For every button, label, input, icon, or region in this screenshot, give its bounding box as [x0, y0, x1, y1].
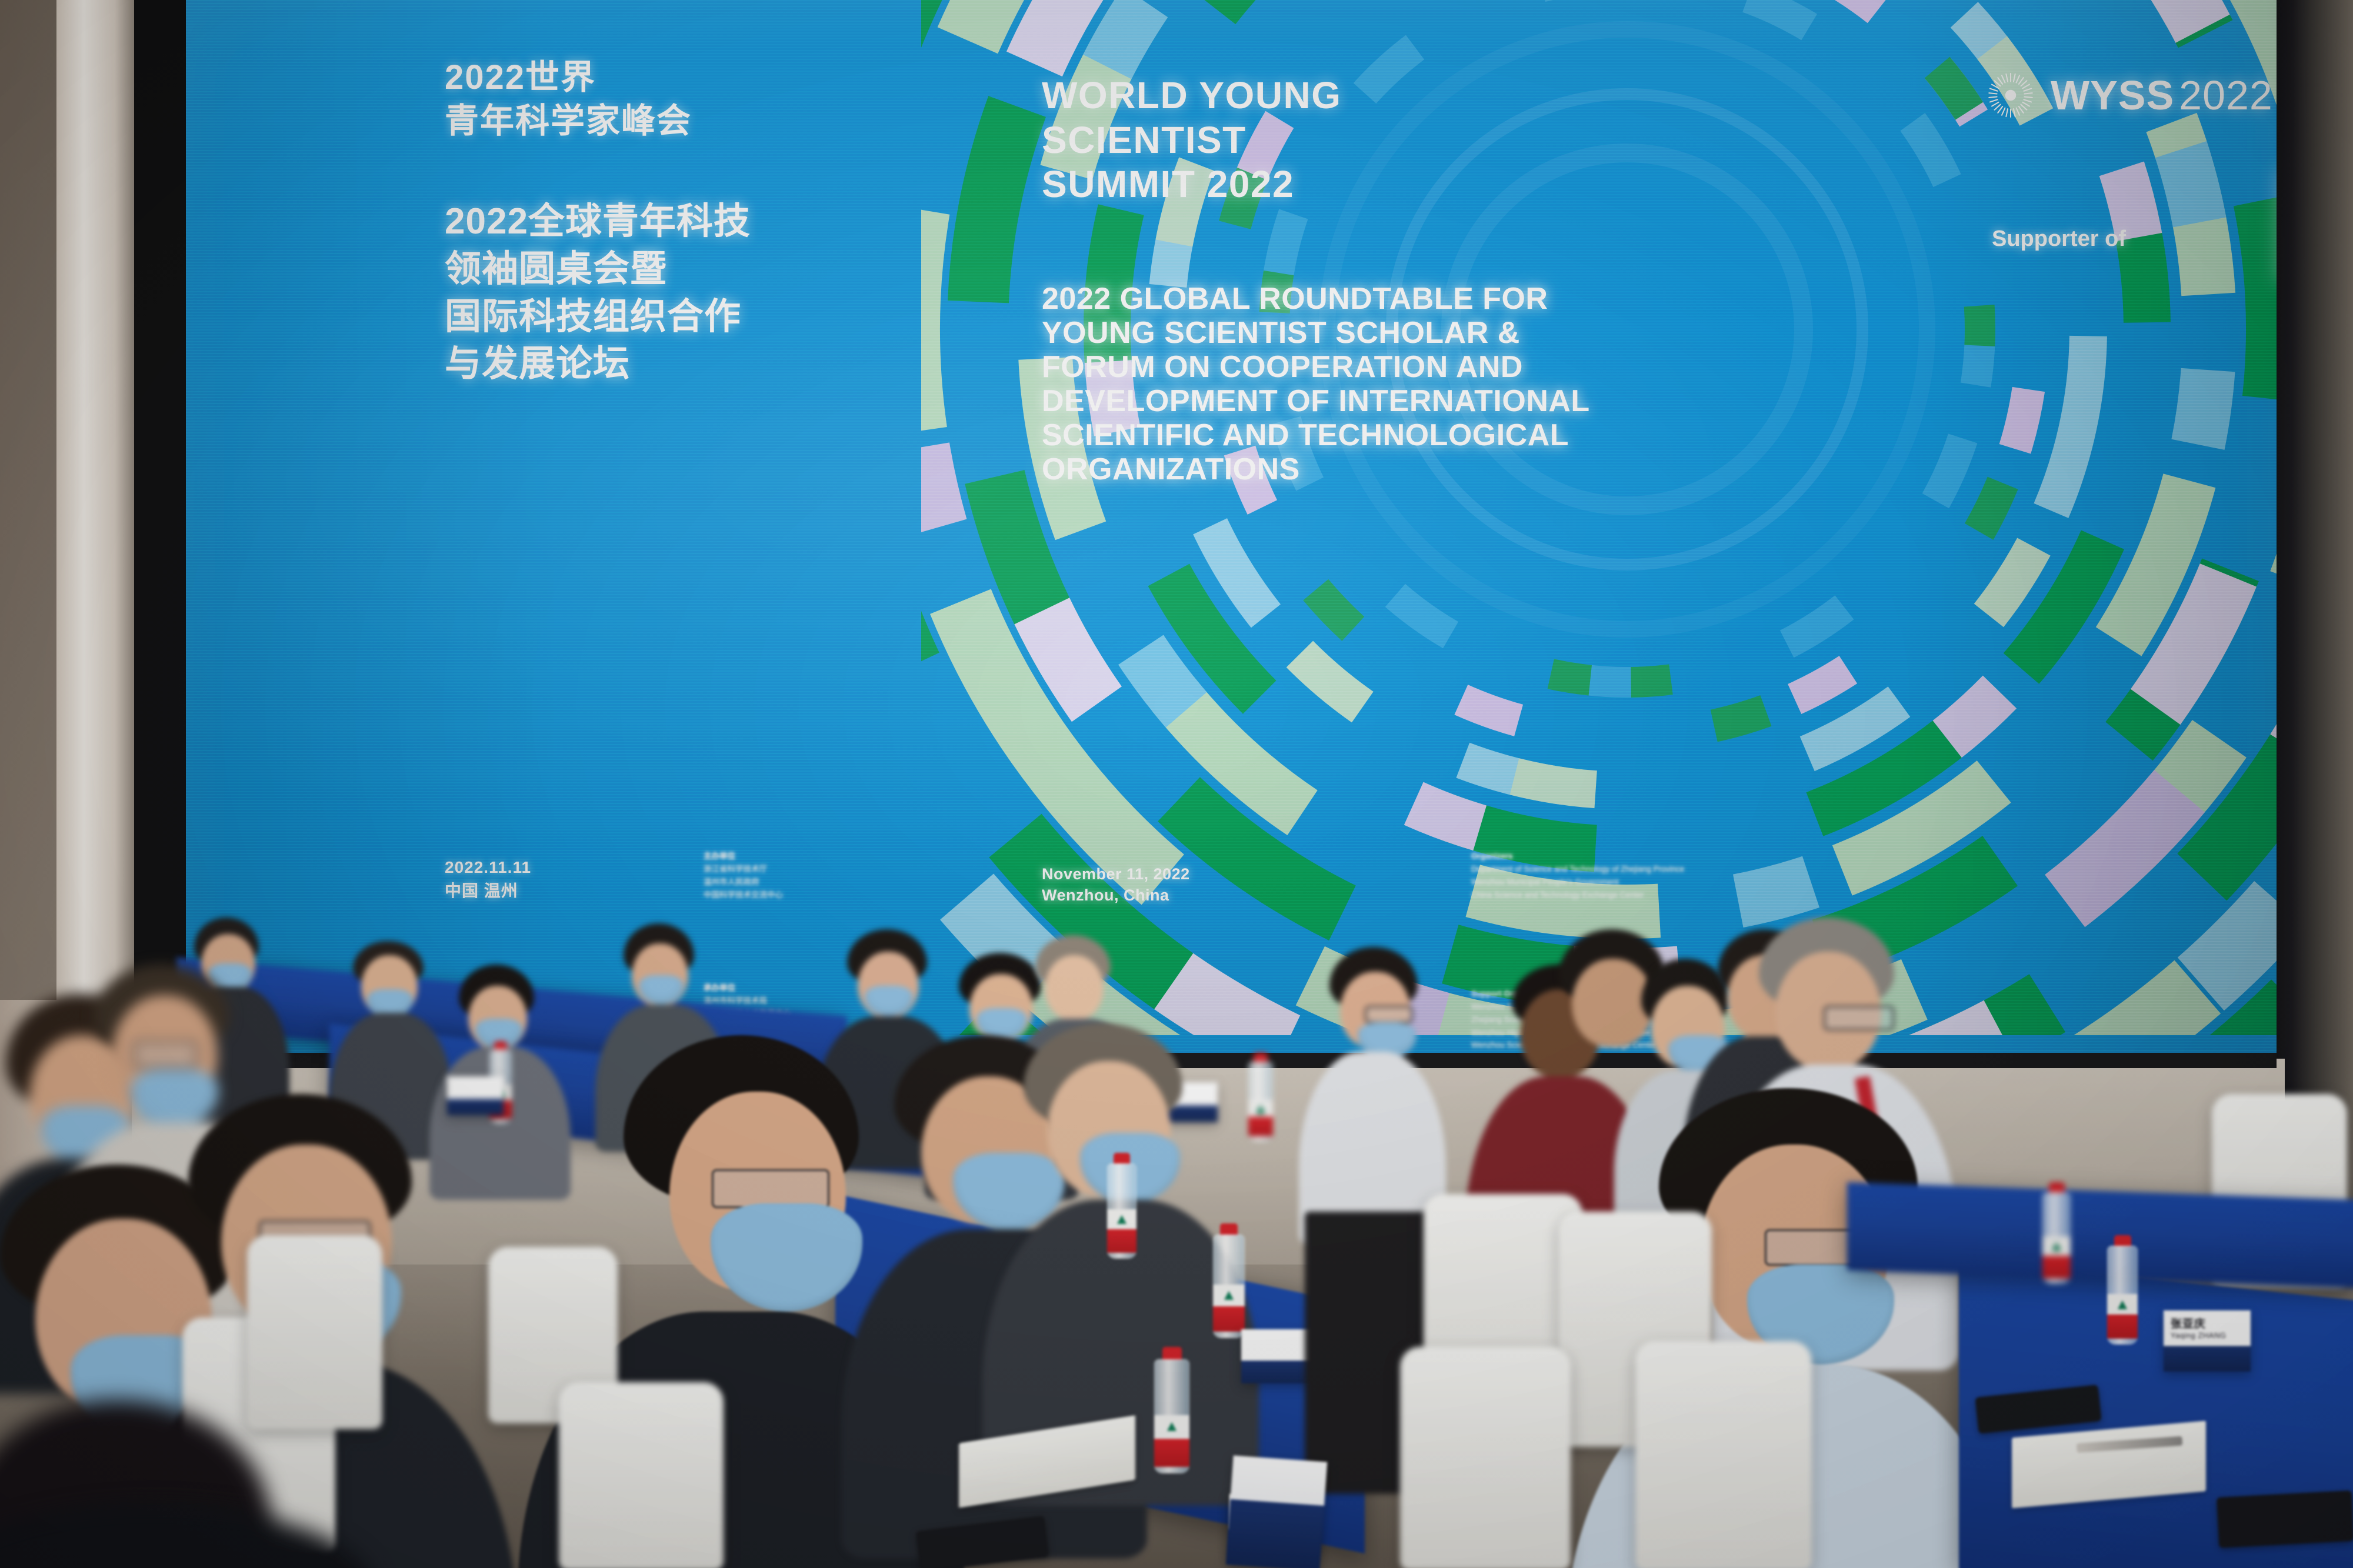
chair-right-3: [1400, 1347, 1571, 1568]
zh-event-line-2: 青年科学家峰会: [445, 99, 892, 143]
en-event-line-3: SUMMIT 2022: [1042, 162, 1571, 207]
name-card-chinese-name: 张亚庆: [2171, 1315, 2206, 1331]
led-stage-screen: 2022世界 青年科学家峰会 2022全球青年科技 领袖圆桌会暨 国际科技组织合…: [186, 0, 2277, 1062]
sunburst-logo-icon: [1986, 71, 2035, 120]
screen-english-event-name: WORLD YOUNG SCIENTIST SUMMIT 2022: [1042, 74, 1571, 207]
name-card-yaqing-zhang: 张亚庆 Yaqing ZHANG: [2164, 1310, 2251, 1372]
en-event-line-2: SCIENTIST: [1042, 118, 1571, 163]
name-card-pinyin-name: Yaqing ZHANG: [2171, 1331, 2227, 1340]
screen-date-chinese: 2022.11.11 中国 温州: [445, 856, 531, 903]
date-en-value: November 11, 2022: [1042, 863, 1190, 885]
water-bottle-front-3: [1153, 1347, 1191, 1473]
supporter-of-label: Supporter of: [1992, 226, 2126, 252]
stage-black-panel: [134, 0, 191, 1076]
organizers-en-a-body: Department of Science and Technology of …: [1471, 865, 1684, 899]
en-forum-line-5: SCIENTIFIC AND TECHNOLOGICAL: [1042, 419, 1942, 453]
water-bottle-front-2: [1212, 1223, 1246, 1338]
zh-forum-line-4: 与发展论坛: [445, 341, 892, 388]
organizers-en-a-heading: Organizers: [1471, 850, 1701, 863]
phone-right-table-2: [2217, 1490, 2353, 1548]
zh-forum-line-3: 国际科技组织合作: [445, 293, 892, 341]
organizers-zh-b-heading: 承办单位: [704, 982, 821, 995]
wyss-logo-lockup: WYSS2022: [1986, 71, 2273, 120]
water-bottle-right-1: [2041, 1182, 2072, 1283]
chair-left-2: [247, 1235, 382, 1429]
organizers-english-primary: Organizers Department of Science and Tec…: [1471, 845, 1701, 901]
screen-chinese-text: 2022世界 青年科学家峰会 2022全球青年科技 领袖圆桌会暨 国际科技组织合…: [445, 56, 892, 388]
table-right-back: [1847, 1182, 2353, 1289]
left-wall-shadow: [0, 0, 56, 1000]
zh-forum-line-1: 2022全球青年科技: [445, 198, 892, 246]
wyss-logo-year: 2022: [2179, 72, 2273, 118]
location-zh-value: 中国 温州: [445, 879, 531, 903]
en-event-line-1: WORLD YOUNG: [1042, 74, 1571, 118]
date-zh-value: 2022.11.11: [445, 856, 531, 879]
en-forum-line-3: FORUM ON COOPERATION AND: [1042, 351, 1942, 385]
zh-forum-line-2: 领袖圆桌会暨: [445, 246, 892, 293]
water-bottle-front-1: [1106, 1153, 1138, 1259]
chair-center-1: [559, 1382, 724, 1568]
screen-date-english: November 11, 2022 Wenzhou, China: [1042, 863, 1190, 906]
name-card-back-1: [447, 1076, 504, 1115]
en-forum-line-6: ORGANIZATIONS: [1042, 453, 1942, 487]
zh-event-line-1: 2022世界: [445, 56, 892, 99]
location-en-value: Wenzhou, China: [1042, 885, 1190, 906]
chair-right-4: [1635, 1341, 1812, 1568]
table-flag-front: [1226, 1456, 1328, 1568]
en-forum-line-4: DEVELOPMENT OF INTERNATIONAL: [1042, 385, 1942, 419]
wyss-logo-text: WYSS: [2051, 72, 2174, 118]
water-bottle-right-2: [2106, 1235, 2139, 1345]
screen-english-forum-title: 2022 GLOBAL ROUNDTABLE FOR YOUNG SCIENTI…: [1042, 282, 1942, 487]
organizers-chinese-primary: 主办单位 浙江省科学技术厅 温州市人民政府 中国科学技术交流中心: [704, 845, 821, 901]
en-forum-line-1: 2022 GLOBAL ROUNDTABLE FOR: [1042, 282, 1942, 316]
water-bottle-back-3: [1247, 1053, 1274, 1141]
conference-hall-photo: 2022世界 青年科学家峰会 2022全球青年科技 领袖圆桌会暨 国际科技组织合…: [0, 0, 2353, 1568]
en-forum-line-2: YOUNG SCIENTIST SCHOLAR &: [1042, 316, 1942, 351]
organizers-zh-a-heading: 主办单位: [704, 850, 821, 863]
organizers-zh-a-body: 浙江省科学技术厅 温州市人民政府 中国科学技术交流中心: [704, 865, 783, 899]
